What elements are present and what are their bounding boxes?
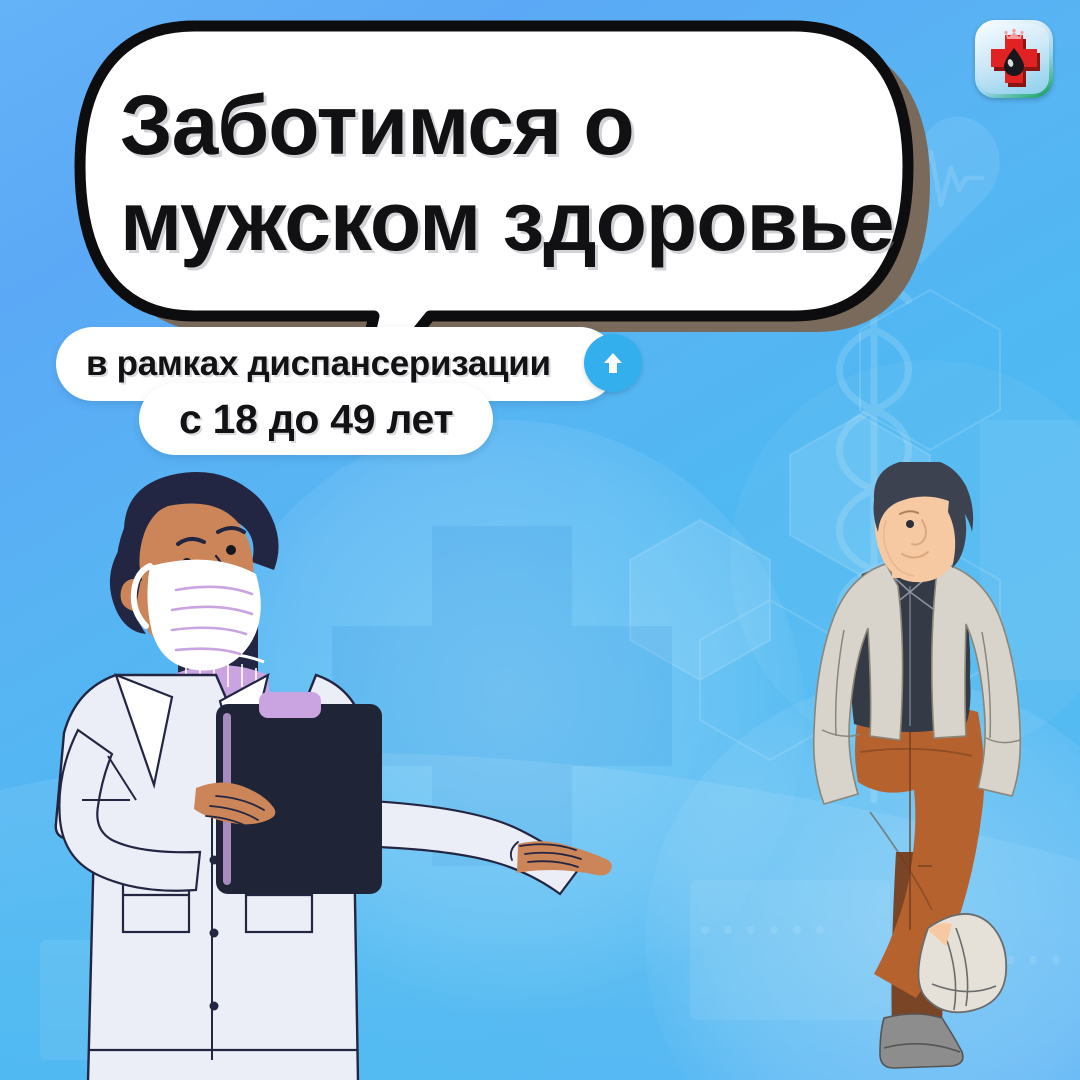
coat-button (210, 929, 219, 938)
standing-man-illustration (800, 462, 1080, 1080)
clipboard-clip (259, 692, 321, 718)
medical-cross-blood-drop-logo-icon (979, 24, 1049, 94)
subtitle-pill-line2: с 18 до 49 лет (139, 383, 493, 455)
man-head (874, 462, 974, 582)
arrow-up-badge[interactable] (584, 334, 642, 392)
poster-root: Заботимся о мужском здоровье в рамках ди… (0, 0, 1080, 1080)
headline-text: Заботимся о мужском здоровье (120, 78, 910, 270)
face-mask-icon (134, 560, 261, 671)
subtitle-line1-text: в рамках диспансеризации (86, 344, 551, 384)
doctor-with-clipboard-illustration (20, 470, 620, 1080)
arrow-up-icon (597, 347, 629, 379)
coat-button (210, 1002, 219, 1011)
subtitle-line2-text: с 18 до 49 лет (179, 396, 453, 443)
logo-inner (979, 24, 1049, 94)
man-back-shoe (880, 1014, 963, 1068)
clinic-logo[interactable] (975, 20, 1053, 98)
